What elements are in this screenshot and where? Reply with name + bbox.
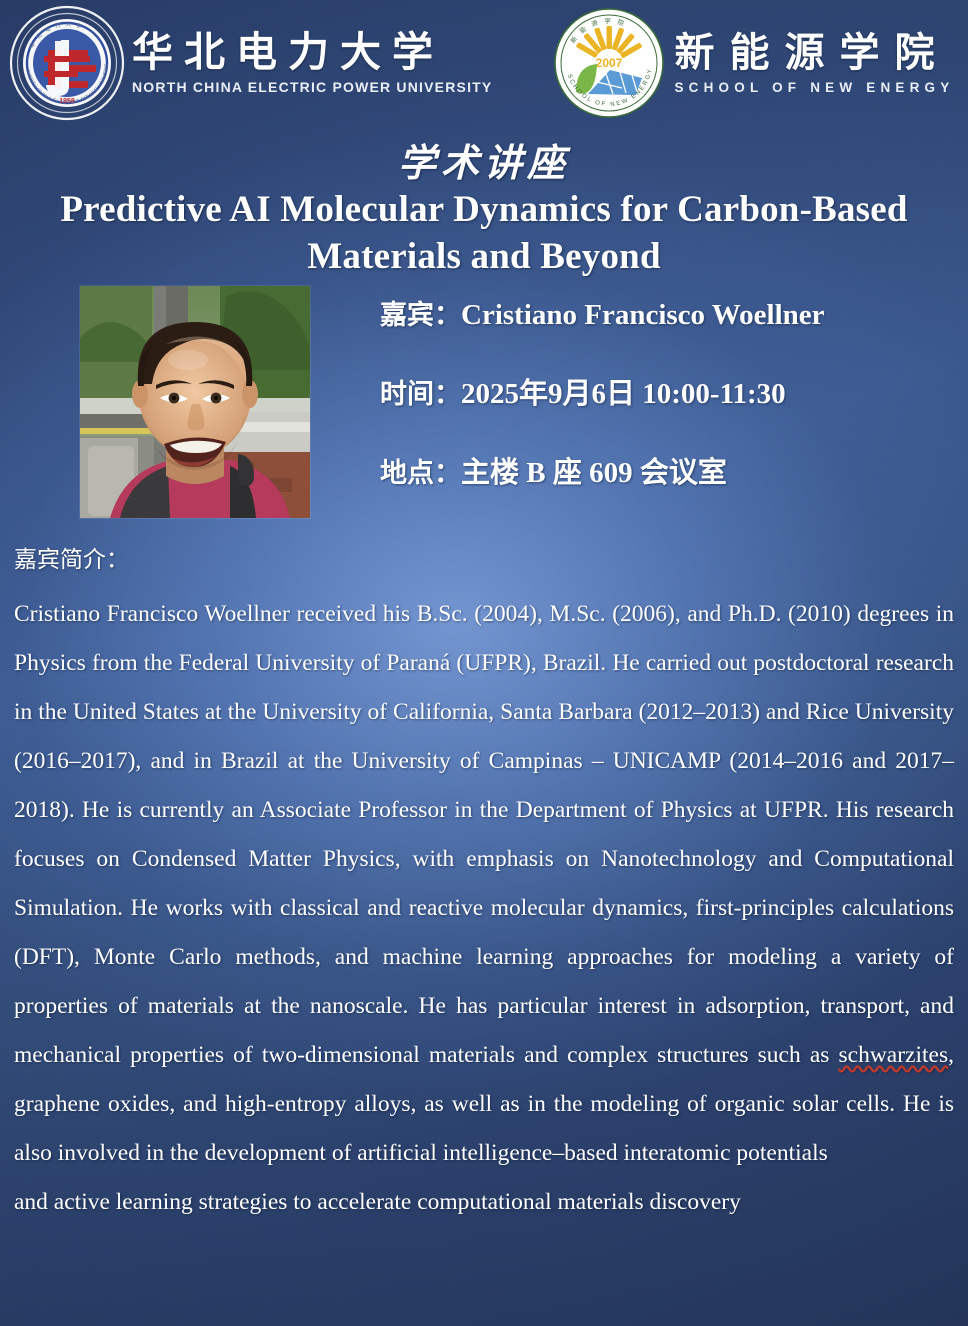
poster-header: 1958 华 北 电 力 大 学 NORTH CHINA ELECTRIC PO… (0, 0, 968, 126)
event-details: 嘉宾：Cristiano Francisco Woellner 时间：2025年… (380, 300, 950, 490)
spellcheck-flagged-word: schwarzites (839, 1042, 949, 1068)
speaker-name: Cristiano Francisco Woellner (461, 299, 825, 331)
ncepu-name-en: NORTH CHINA ELECTRIC POWER UNIVERSITY (132, 79, 492, 95)
seminar-poster: 1958 华 北 电 力 大 学 NORTH CHINA ELECTRIC PO… (0, 0, 968, 1326)
brand-school-of-new-energy: 2007 新 能 源 学 院 SCHOOL OF (550, 4, 954, 122)
sne-name-en: SCHOOL OF NEW ENERGY (674, 80, 954, 95)
bio-text-part1: Cristiano Francisco Woellner received hi… (14, 601, 954, 1068)
time-value: 2025年9月6日 10:00-11:30 (461, 378, 786, 410)
ncepu-crest-icon: 1958 华 北 电 力 大 学 NORTH CHINA ELECTRIC PO… (8, 4, 126, 122)
svg-text:2007: 2007 (596, 56, 623, 70)
location-value: 主楼 B 座 609 会议室 (461, 457, 727, 489)
poster-kicker: 学术讲座 (0, 132, 968, 187)
time-label: 时间： (380, 379, 461, 409)
speaker-label: 嘉宾： (380, 300, 461, 330)
brand-ncepu: 1958 华 北 电 力 大 学 NORTH CHINA ELECTRIC PO… (8, 4, 492, 122)
sne-name-cn: 新能源学院 (674, 32, 954, 74)
page-title: Predictive AI Molecular Dynamics for Car… (40, 186, 928, 281)
speaker-bio-section: 嘉宾简介： Cristiano Francisco Woellner recei… (14, 540, 954, 1227)
school-of-new-energy-crest-icon: 2007 新 能 源 学 院 SCHOOL OF (550, 4, 668, 122)
bio-heading: 嘉宾简介： (14, 540, 954, 574)
ncepu-name-cn: 华北电力大学 (132, 31, 492, 74)
bio-last-line: and active learning strategies to accele… (14, 1178, 954, 1227)
location-label: 地点： (380, 458, 461, 488)
speaker-portrait (80, 286, 310, 518)
bio-body: Cristiano Francisco Woellner received hi… (14, 590, 954, 1227)
sne-wordmark: 新能源学院 SCHOOL OF NEW ENERGY (674, 32, 954, 95)
detail-row-time: 时间：2025年9月6日 10:00-11:30 (380, 379, 950, 411)
detail-row-location: 地点：主楼 B 座 609 会议室 (380, 458, 950, 490)
ncepu-wordmark: 华北电力大学 NORTH CHINA ELECTRIC POWER UNIVER… (132, 31, 492, 95)
detail-row-speaker: 嘉宾：Cristiano Francisco Woellner (380, 300, 950, 332)
